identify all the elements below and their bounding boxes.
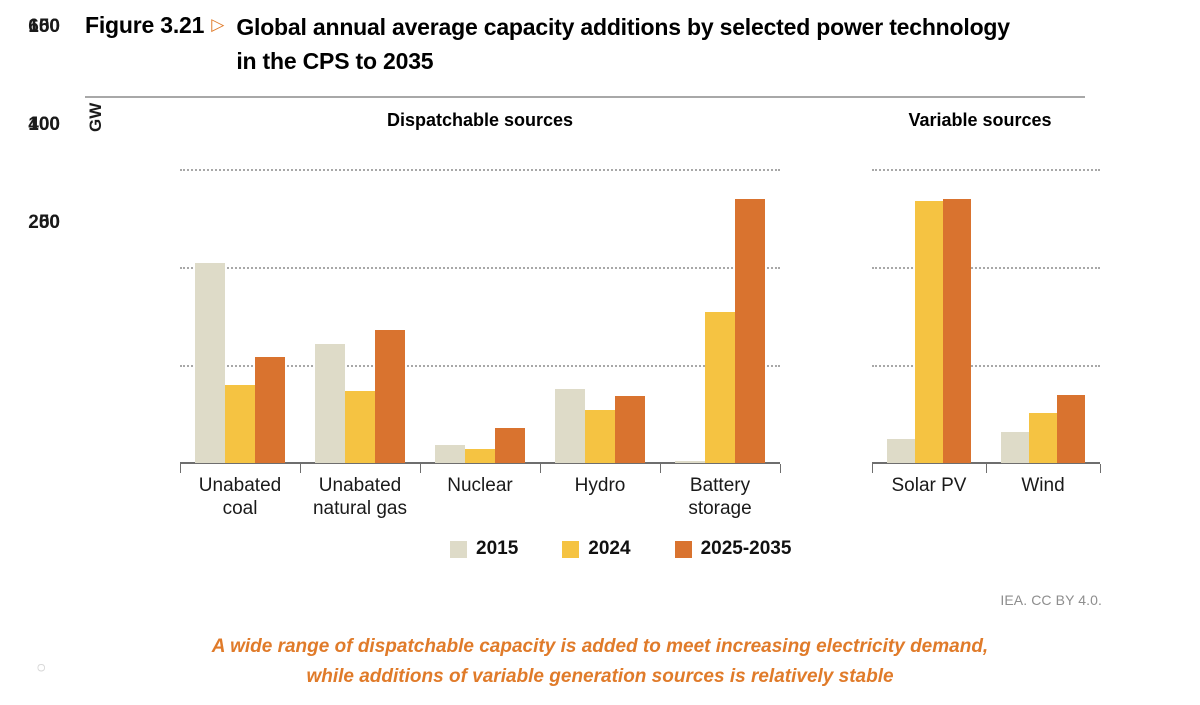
chart-plot-variable <box>872 140 1100 463</box>
bar[interactable] <box>615 396 645 463</box>
figure-number: Figure 3.21 <box>85 10 204 40</box>
page-number-artifact: O <box>36 663 48 672</box>
bar[interactable] <box>225 385 255 463</box>
bar[interactable] <box>495 428 525 463</box>
legend-swatch-2025-2035 <box>675 541 692 558</box>
x-axis-label-line: Solar PV <box>872 474 986 497</box>
bar-group <box>986 140 1100 463</box>
bar-groups <box>872 140 1100 463</box>
legend-label-2024: 2024 <box>588 538 630 560</box>
bar-group <box>872 140 986 463</box>
bar[interactable] <box>915 201 943 463</box>
bar-group <box>420 140 540 463</box>
bar[interactable] <box>465 449 495 463</box>
bar[interactable] <box>255 357 285 463</box>
bar[interactable] <box>375 330 405 463</box>
title-divider <box>85 96 1085 98</box>
x-axis-label-line: Unabated <box>300 474 420 497</box>
x-axis-labels-left: UnabatedcoalUnabatednatural gasNuclearHy… <box>180 474 780 520</box>
bar[interactable] <box>195 263 225 463</box>
x-axis-label-line: Unabated <box>180 474 300 497</box>
x-axis-label-line: natural gas <box>300 497 420 520</box>
bar-group <box>540 140 660 463</box>
figure-caption-line-2: while additions of variable generation s… <box>100 662 1100 692</box>
bar-groups <box>180 140 780 463</box>
y-tick-label-600: 600 <box>0 16 60 38</box>
x-axis-tick <box>420 464 421 473</box>
bar-group <box>300 140 420 463</box>
bar[interactable] <box>705 312 735 463</box>
y-tick-label-200: 200 <box>0 212 60 234</box>
bar[interactable] <box>585 410 615 463</box>
bar[interactable] <box>675 461 705 463</box>
bar[interactable] <box>315 344 345 463</box>
legend-swatch-2015 <box>450 541 467 558</box>
legend-label-2025-2035: 2025-2035 <box>701 538 792 560</box>
bar[interactable] <box>735 199 765 463</box>
x-axis-label-line: Battery <box>660 474 780 497</box>
panel-title-variable: Variable sources <box>860 110 1100 131</box>
bar-group <box>660 140 780 463</box>
x-axis-label: Solar PV <box>872 474 986 497</box>
figure-caption: A wide range of dispatchable capacity is… <box>100 632 1100 692</box>
x-axis-tick <box>872 464 873 473</box>
figure-container: Figure 3.21 ▷ Global annual average capa… <box>0 0 1200 705</box>
x-axis-label-line: storage <box>660 497 780 520</box>
iea-credit: IEA. CC BY 4.0. <box>1000 592 1102 608</box>
x-axis-tick <box>986 464 987 473</box>
x-axis-label: Batterystorage <box>660 474 780 520</box>
triangle-marker-icon: ▷ <box>211 10 224 40</box>
x-axis-label: Unabatedcoal <box>180 474 300 520</box>
x-axis-tick <box>660 464 661 473</box>
bar[interactable] <box>435 445 465 463</box>
x-axis-label-line: Nuclear <box>420 474 540 497</box>
x-axis-label: Wind <box>986 474 1100 497</box>
bar[interactable] <box>887 439 915 463</box>
y-tick-label-400: 400 <box>0 114 60 136</box>
bar-group <box>180 140 300 463</box>
x-axis-tick <box>780 464 781 473</box>
legend-swatch-2024 <box>562 541 579 558</box>
bar[interactable] <box>943 199 971 463</box>
figure-title: Global annual average capacity additions… <box>236 10 1026 78</box>
x-axis-label: Nuclear <box>420 474 540 520</box>
x-axis-labels-right: Solar PVWind <box>872 474 1100 497</box>
legend-item-2024[interactable]: 2024 <box>562 538 630 560</box>
bar[interactable] <box>1001 432 1029 463</box>
x-axis-tick <box>1100 464 1101 473</box>
x-axis-tick <box>300 464 301 473</box>
chart-plot-dispatchable <box>180 140 780 463</box>
bar[interactable] <box>1029 413 1057 463</box>
chart-legend: 2015 2024 2025-2035 <box>450 538 791 560</box>
bar[interactable] <box>1057 395 1085 464</box>
x-axis-label: Hydro <box>540 474 660 520</box>
bar[interactable] <box>555 389 585 463</box>
x-axis-tick <box>180 464 181 473</box>
figure-title-block: Figure 3.21 ▷ Global annual average capa… <box>85 10 1085 78</box>
x-axis-label-line: Wind <box>986 474 1100 497</box>
x-axis-tick <box>540 464 541 473</box>
bar[interactable] <box>345 391 375 463</box>
x-axis-label-line: coal <box>180 497 300 520</box>
x-axis-label: Unabatednatural gas <box>300 474 420 520</box>
legend-label-2015: 2015 <box>476 538 518 560</box>
x-axis-label-line: Hydro <box>540 474 660 497</box>
panel-title-dispatchable: Dispatchable sources <box>180 110 780 131</box>
legend-item-2015[interactable]: 2015 <box>450 538 518 560</box>
y-axis-unit-label: GW <box>86 103 106 132</box>
legend-item-2025-2035[interactable]: 2025-2035 <box>675 538 792 560</box>
figure-caption-line-1: A wide range of dispatchable capacity is… <box>100 632 1100 662</box>
